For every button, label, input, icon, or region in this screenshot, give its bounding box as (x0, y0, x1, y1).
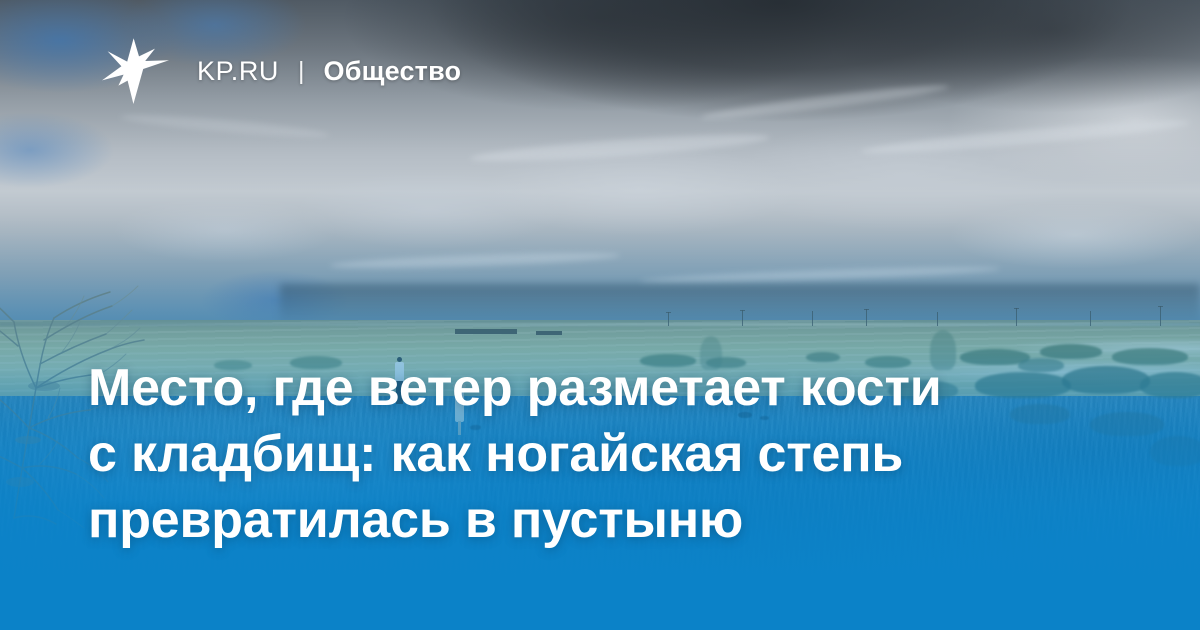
social-share-card: KP.RU | Общество Место, где ветер размет… (0, 0, 1200, 630)
card-header: KP.RU | Общество (99, 36, 461, 106)
headline-line-1: Место, где ветер разметает кости (88, 355, 1078, 421)
brand-line: KP.RU | Общество (197, 58, 461, 85)
article-headline: Место, где ветер разметает кости с кладб… (88, 355, 1078, 553)
brand-name[interactable]: KP.RU (197, 58, 279, 85)
swallow-bird-logo-icon[interactable] (99, 36, 173, 106)
brand-separator: | (298, 59, 305, 84)
rubric-label[interactable]: Общество (324, 58, 462, 85)
headline-line-2: с кладбищ: как ногайская степь (88, 421, 1078, 487)
headline-line-3: превратилась в пустыню (88, 487, 1078, 553)
